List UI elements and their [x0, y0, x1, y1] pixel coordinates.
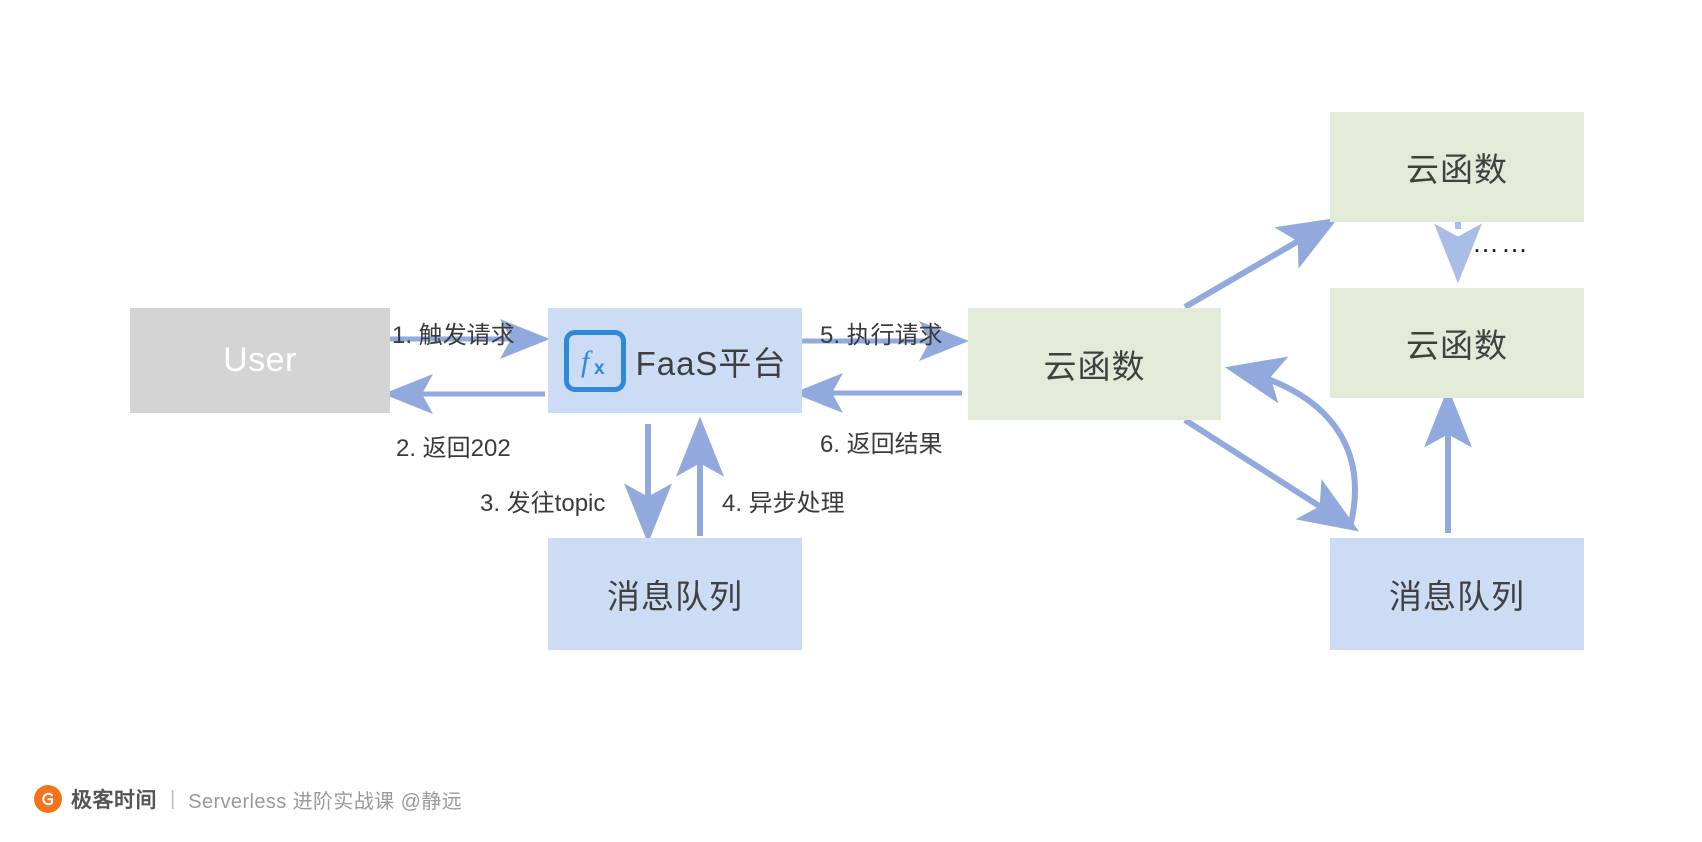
node-cloud-function-main-label: 云函数 — [1044, 340, 1146, 388]
node-cloud-function-top-label: 云函数 — [1406, 143, 1508, 191]
edge-label-step4: 4. 异步处理 — [722, 483, 845, 518]
node-user[interactable]: User — [130, 308, 390, 413]
node-faas-platform[interactable]: f x FaaS平台 — [548, 308, 802, 413]
node-faas-platform-label: FaaS平台 — [636, 337, 787, 385]
geek-time-logo-icon — [34, 785, 62, 813]
node-cloud-function-top[interactable]: 云函数 — [1330, 112, 1584, 222]
diagram-canvas: User f x FaaS平台 消息队列 云函数 云函数 云函数 消息队列 1.… — [0, 0, 1702, 842]
fx-function-icon: f x — [564, 330, 626, 392]
node-cloud-function-bottom-label: 云函数 — [1406, 319, 1508, 367]
edge-label-step6: 6. 返回结果 — [820, 424, 943, 459]
edge-label-step5: 5. 执行请求 — [820, 315, 943, 350]
edge-label-step3: 3. 发往topic — [480, 483, 605, 518]
edge-label-step2: 2. 返回202 — [396, 428, 511, 463]
node-cloud-function-main[interactable]: 云函数 — [968, 308, 1221, 420]
edge-label-ellipsis: …… — [1472, 228, 1530, 259]
arrow-to-right-queue — [1185, 420, 1352, 527]
node-message-queue-left[interactable]: 消息队列 — [548, 538, 802, 650]
footer-watermark: 极客时间 | Serverless 进阶实战课 @静远 — [34, 784, 462, 814]
footer-subtitle: Serverless 进阶实战课 @静远 — [188, 785, 462, 814]
arrow-fanout-top — [1185, 222, 1331, 307]
node-cloud-function-bottom[interactable]: 云函数 — [1330, 288, 1584, 398]
edge-label-step1: 1. 触发请求 — [392, 315, 515, 350]
node-message-queue-right[interactable]: 消息队列 — [1330, 538, 1584, 650]
node-message-queue-right-label: 消息队列 — [1389, 570, 1525, 618]
node-message-queue-left-label: 消息队列 — [607, 570, 743, 618]
svg-text:f: f — [581, 345, 593, 378]
svg-text:x: x — [594, 358, 606, 379]
footer-brand: 极客时间 — [71, 784, 157, 814]
node-user-label: User — [223, 341, 297, 380]
footer-divider: | — [170, 788, 175, 811]
